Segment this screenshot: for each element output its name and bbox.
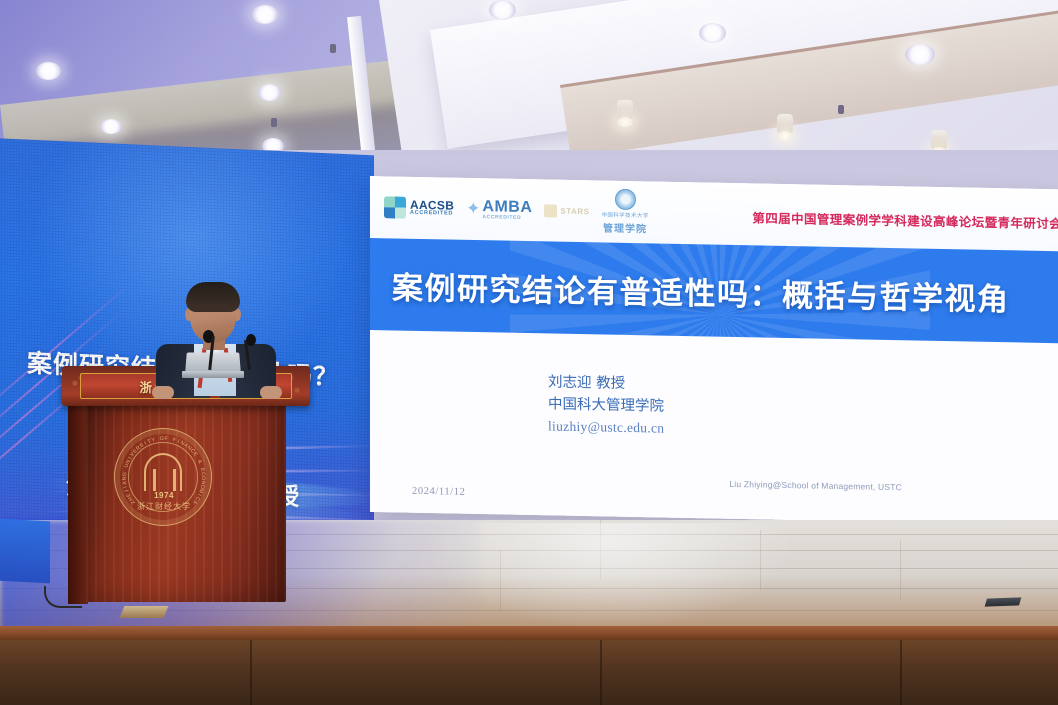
stars-logo-icon: STARS — [544, 204, 589, 218]
stage-monitor-left — [0, 519, 50, 584]
floor-device-right — [985, 597, 1022, 606]
slide-presenter-block: 刘志迎 教授 中国科大管理学院 liuzhiy@ustc.edu.cn — [548, 371, 664, 439]
ustc-university-label: 中国科学技术大学 — [601, 210, 648, 219]
spotlight-icon — [617, 100, 633, 122]
microphone-icon — [246, 334, 256, 346]
slide-footer-date: 2024/11/12 — [412, 486, 465, 498]
speaker-hair — [186, 282, 240, 312]
amba-wing-icon: ✦ — [466, 199, 480, 219]
speaker-person — [150, 286, 282, 396]
stage-front-panel — [0, 640, 1058, 705]
spotlight-icon — [777, 114, 793, 136]
slide-title-text: 案例研究结论有普适性吗：概括与哲学视角 — [370, 262, 1010, 319]
slide-canvas: AACSB ACCREDITED ✦ AMBA ACCREDITED STARS — [370, 176, 1058, 525]
conference-banner-text: 第四届中国管理案例学学科建设高峰论坛暨青年研讨会 — [752, 207, 1058, 232]
laptop-keyboard — [182, 371, 244, 378]
ceiling-sensor-icon — [271, 118, 277, 127]
presenter-name: 刘志迎 教授 — [548, 371, 664, 396]
stage-light-pool — [430, 523, 790, 628]
floor-wedge-object — [120, 606, 169, 618]
ustc-school-label: 管理学院 — [603, 219, 647, 235]
laptop-screen — [185, 353, 241, 373]
amba-label: AMBA — [482, 199, 532, 216]
projection-slide: AACSB ACCREDITED ✦ AMBA ACCREDITED STARS — [370, 176, 1058, 525]
downlight-icon — [905, 44, 935, 65]
spotlight-icon — [931, 130, 947, 152]
downlight-icon — [489, 0, 516, 20]
amba-sublabel: ACCREDITED — [482, 215, 532, 221]
ustc-logo-icon: 中国科学技术大学 管理学院 — [601, 188, 648, 235]
conference-photo-scene: 案例研究结论有普适性吗？ 概括和哲学视角 演讲者：刘志迎 教授 AACSB AC… — [0, 0, 1058, 705]
podium-side-panel — [68, 404, 88, 604]
downlight-icon — [100, 119, 122, 134]
aacsb-logo-icon: AACSB ACCREDITED — [384, 196, 454, 219]
emblem-english-name: ZHEJIANG UNIVERSITY OF FINANCE & ECONOMI… — [115, 429, 213, 527]
laptop-on-podium — [182, 352, 244, 378]
floor-cable — [44, 586, 82, 608]
university-emblem: 1974 浙江财经大学 ZHEJIANG UNIVERSITY OF FINAN… — [114, 428, 212, 526]
downlight-icon — [36, 62, 61, 80]
slide-body: 刘志迎 教授 中国科大管理学院 liuzhiy@ustc.edu.cn 2024… — [370, 330, 1058, 525]
slide-title-band: 案例研究结论有普适性吗：概括与哲学视角 — [370, 238, 1058, 343]
speaker-hand-right — [260, 386, 282, 399]
ceiling-sensor-icon — [330, 44, 336, 53]
downlight-icon — [699, 23, 726, 43]
amba-logo-icon: ✦ AMBA ACCREDITED — [466, 198, 532, 220]
downlight-icon — [258, 84, 281, 101]
aacsb-mark-icon — [384, 196, 406, 218]
ceiling-sensor-icon — [838, 105, 844, 114]
stars-label: STARS — [560, 206, 589, 216]
aacsb-sublabel: ACCREDITED — [410, 211, 454, 217]
stars-mark-icon — [544, 204, 557, 217]
ustc-seal-icon — [615, 189, 636, 210]
podium: 1974 浙江财经大学 ZHEJIANG UNIVERSITY OF FINAN… — [62, 366, 310, 616]
presenter-affiliation: 中国科大管理学院 — [548, 394, 664, 419]
presenter-email: liuzhiy@ustc.edu.cn — [548, 416, 664, 439]
speaker-hand-left — [152, 386, 174, 399]
downlight-icon — [252, 5, 278, 24]
slide-footer-attribution: Liu Zhiying@School of Management, USTC — [729, 479, 902, 492]
